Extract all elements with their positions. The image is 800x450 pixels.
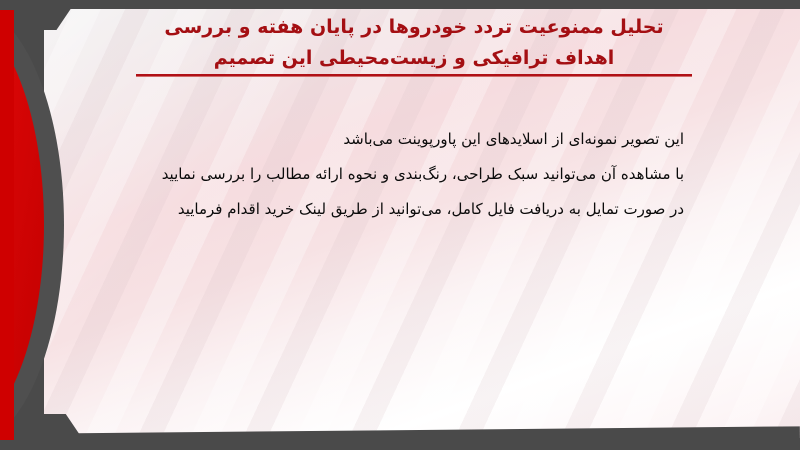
slide-body-line-3: در صورت تمایل به دریافت فایل کامل، می‌تو… <box>84 192 684 227</box>
slide-body-line-1: این تصویر نمونه‌ای از اسلایدهای این پاور… <box>84 122 684 157</box>
slide-body-line-2: با مشاهده آن می‌توانید سبک طراحی، رنگ‌بن… <box>84 157 684 192</box>
red-ellipse-edge-fill <box>0 10 14 440</box>
slide-body: این تصویر نمونه‌ای از اسلایدهای این پاور… <box>84 122 684 227</box>
slide-title-line-2: اهداف ترافیکی و زیست‌محیطی این تصمیم <box>140 43 688 74</box>
slide-title-line-1: تحلیل ممنوعیت تردد خودروها در پایان هفته… <box>140 12 688 43</box>
slide-canvas: تحلیل ممنوعیت تردد خودروها در پایان هفته… <box>0 0 800 450</box>
frame-band-top <box>0 0 800 9</box>
slide-title: تحلیل ممنوعیت تردد خودروها در پایان هفته… <box>140 12 688 74</box>
title-divider <box>136 74 692 77</box>
